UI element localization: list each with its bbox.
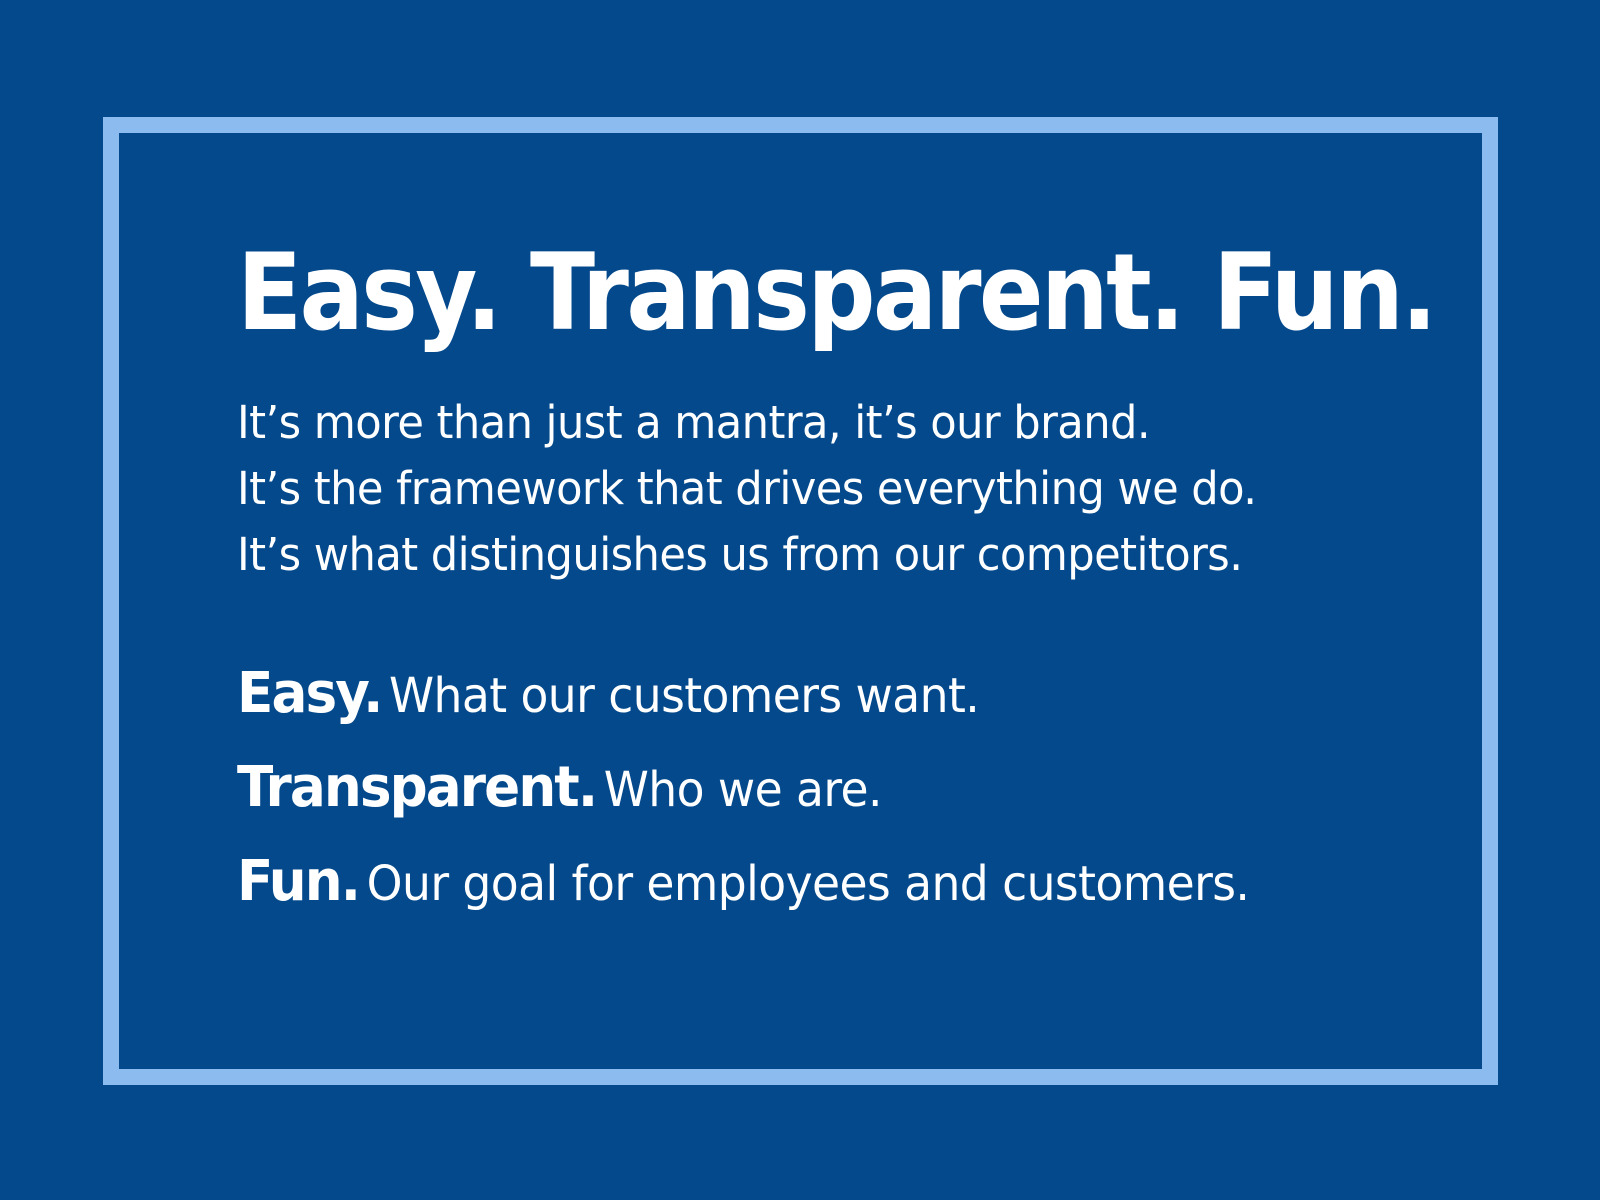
intro-paragraph-line-3: It’s what distinguishes us from our comp… <box>237 522 1370 588</box>
slide-content: Easy. Transparent. Fun. It’s more than j… <box>237 196 1417 936</box>
definition-item-fun: Fun.Our goal for employees and customers… <box>237 842 1358 936</box>
intro-paragraph-line-1: It’s more than just a mantra, it’s our b… <box>237 390 1370 456</box>
definition-description-easy: What our customers want. <box>381 668 979 724</box>
intro-paragraph: It’s more than just a mantra, it’s our b… <box>237 390 1417 588</box>
definition-item-easy: Easy.What our customers want. <box>237 654 1358 748</box>
definition-description-transparent: Who we are. <box>596 762 882 818</box>
intro-paragraph-line-2: It’s the framework that drives everythin… <box>237 456 1370 522</box>
page-title: Easy. Transparent. Fun. <box>237 196 1299 346</box>
slide-canvas: Easy. Transparent. Fun. It’s more than j… <box>0 0 1600 1200</box>
definition-term-easy: Easy. <box>237 661 381 726</box>
definition-term-fun: Fun. <box>237 849 359 914</box>
definition-term-transparent: Transparent. <box>237 755 596 820</box>
definition-description-fun: Our goal for employees and customers. <box>359 856 1249 912</box>
definitions-list: Easy.What our customers want. Transparen… <box>237 654 1417 936</box>
definition-item-transparent: Transparent.Who we are. <box>237 748 1358 842</box>
